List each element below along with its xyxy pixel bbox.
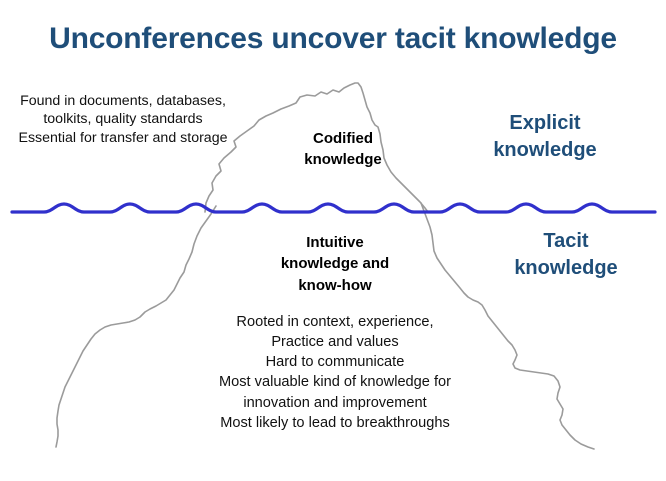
- explicit-knowledge-description: Found in documents, databases, toolkits,…: [12, 92, 234, 147]
- tacit-knowledge-category-label: Tacit knowledge: [466, 228, 666, 282]
- intuitive-knowledge-label: Intuitive knowledge and know-how: [240, 232, 430, 296]
- explicit-knowledge-category-label: Explicit knowledge: [432, 110, 658, 164]
- page-title: Unconferences uncover tacit knowledge: [0, 22, 666, 56]
- codified-knowledge-label: Codified knowledge: [258, 128, 428, 171]
- tacit-knowledge-description: Rooted in context, experience, Practice …: [120, 312, 550, 433]
- slide-canvas: Unconferences uncover tacit knowledge Fo…: [0, 0, 666, 481]
- waterline-wave: [12, 204, 655, 212]
